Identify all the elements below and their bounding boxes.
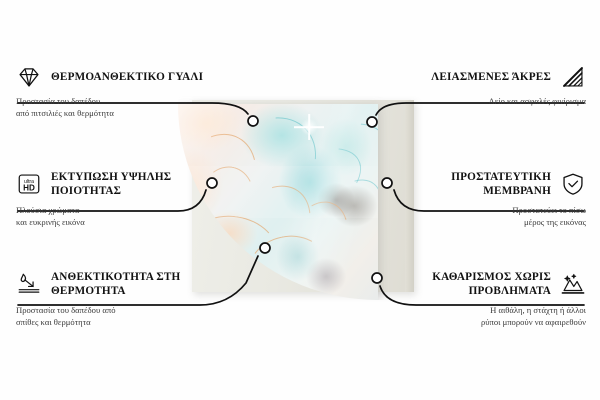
polished-edges-icon (560, 64, 586, 90)
feature-subtitle: Πλούσια χρώματακαι ευκρινής εικόνα (16, 204, 212, 228)
feature-subtitle: Η αιθάλη, η στάχτη ή άλλοιρύποι μπορούν … (390, 304, 586, 328)
feature-title: ΠΡΟΣΤΑΤΕΥΤΙΚΗ ΜΕΜΒΡΑΝΗ (390, 170, 551, 199)
easy-clean-icon (560, 271, 586, 297)
feature-high-quality-print: ultra HD ΕΚΤΥΠΩΣΗ ΥΨΗΛΗΣ ΠΟΙΟΤΗΤΑΣ Πλούσ… (16, 170, 212, 228)
shield-check-icon (560, 171, 586, 197)
feature-title: ΕΚΤΥΠΩΣΗ ΥΨΗΛΗΣ ΠΟΙΟΤΗΤΑΣ (51, 170, 212, 199)
connector-endpoint (248, 116, 258, 126)
feature-title: ΛΕΙΑΣΜΕΝΕΣ ΆΚΡΕΣ (431, 70, 551, 84)
infographic-canvas: ΘΕΡΜΟΑΝΘΕΚΤΙΚΟ ΓΥΑΛΙ Προστασία του δαπέδ… (0, 0, 600, 400)
feature-subtitle: Προστασία του δαπέδουαπό πιτσιλιές και θ… (16, 95, 212, 119)
feature-polished-edges: ΛΕΙΑΣΜΕΝΕΣ ΆΚΡΕΣ Λείο και ασφαλές φινίρι… (390, 64, 586, 107)
feature-subtitle: Προστασία του δαπέδου απόσπίθες και θερμ… (16, 304, 212, 328)
feature-title: ΑΝΘΕΚΤΙΚΟΤΗΤΑ ΣΤΗ ΘΕΡΜΟΤΗΤΑ (51, 270, 212, 299)
feature-title: ΘΕΡΜΟΑΝΘΕΚΤΙΚΟ ΓΥΑΛΙ (51, 70, 203, 84)
connector-endpoint (372, 273, 382, 283)
ultra-hd-icon: ultra HD (16, 171, 42, 197)
feature-subtitle: Προστατεύει το πίσωμέρος της εικόνας (390, 204, 586, 228)
feature-title: ΚΑΘΑΡΙΣΜΟΣ ΧΩΡΙΣ ΠΡΟΒΛΗΜΑΤΑ (390, 270, 551, 299)
feature-subtitle: Λείο και ασφαλές φινίρισμα (390, 95, 586, 107)
connector-endpoint (367, 117, 377, 127)
heat-deflection-icon (16, 271, 42, 297)
connector-endpoint (260, 243, 270, 253)
diamond-icon (16, 64, 42, 90)
ultra-hd-icon-bottom: HD (23, 184, 35, 193)
feature-heat-durability: ΑΝΘΕΚΤΙΚΟΤΗΤΑ ΣΤΗ ΘΕΡΜΟΤΗΤΑ Προστασία το… (16, 270, 212, 328)
feature-protective-membrane: ΠΡΟΣΤΑΤΕΥΤΙΚΗ ΜΕΜΒΡΑΝΗ Προστατεύει το πί… (390, 170, 586, 228)
feature-heat-resistant-glass: ΘΕΡΜΟΑΝΘΕΚΤΙΚΟ ΓΥΑΛΙ Προστασία του δαπέδ… (16, 64, 212, 119)
feature-easy-cleaning: ΚΑΘΑΡΙΣΜΟΣ ΧΩΡΙΣ ΠΡΟΒΛΗΜΑΤΑ Η αιθάλη, η … (390, 270, 586, 328)
